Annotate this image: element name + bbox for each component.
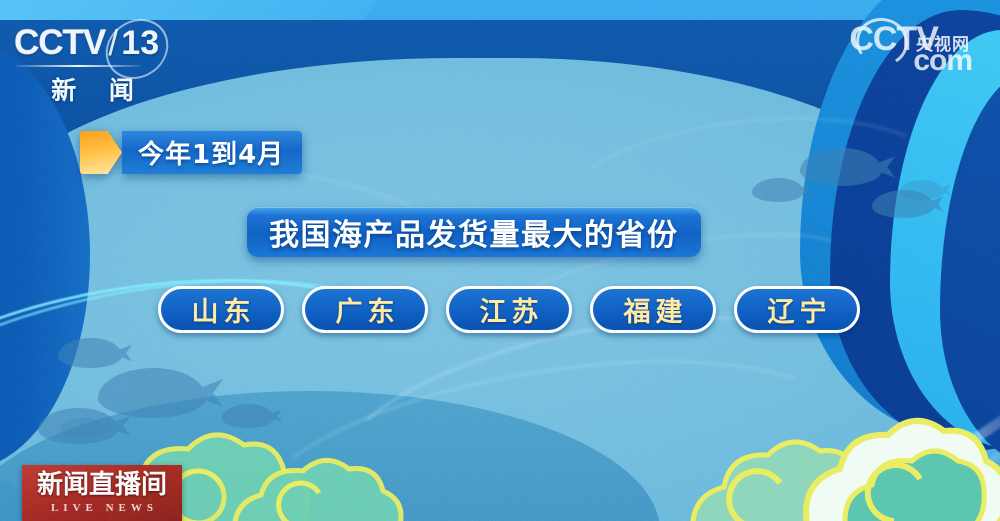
fish-silhouette-icon [872,190,934,218]
pentagon-marker-icon [80,131,122,174]
watermark-cn-text: 央视网 [916,30,970,55]
province-pill-list: 山东 广东 江苏 福建 辽宁 [158,286,860,333]
province-pill-fujian: 福建 [590,286,716,333]
background-right-ribbon-3 [890,30,1000,450]
logo-cctv-text: CCTV [14,23,105,63]
cctv-com-watermark: 央视网 CCTV com [849,22,972,76]
fish-silhouette-icon [98,368,206,418]
date-tag-body: 今年1到4月 [122,131,302,174]
fish-silhouette-icon [60,418,106,438]
province-pill-liaoning: 辽宁 [734,286,860,333]
water-ripple [238,324,866,521]
live-banner-en: LIVE NEWS [46,502,158,514]
province-label: 广东 [331,290,400,329]
live-banner-cn: 新闻直播间 [37,472,167,499]
fish-silhouette-icon [752,178,804,202]
background-right-ribbon-4 [940,70,1000,470]
headline-text: 我国海产品发货量最大的省份 [269,210,679,254]
fish-silhouette-icon [222,404,274,428]
headline-banner: 我国海产品发货量最大的省份 [247,207,701,257]
cctv13-channel-logo: CCTV / 13 新 闻 [14,22,159,107]
province-pill-jiangsu: 江苏 [446,286,572,333]
broadcast-graphic-screenshot: CCTV / 13 新 闻 央视网 CCTV com 今年1到4月 我国海产品发… [0,0,1000,521]
province-pill-guangdong: 广东 [302,286,428,333]
live-news-banner: 新闻直播间 LIVE NEWS [22,465,182,521]
decorative-light-streak [738,391,1000,521]
ornament-cloud-left-2 [215,417,445,521]
date-tag-label: 今年1到4月 [138,134,284,171]
fish-silhouette-icon [800,148,882,186]
fish-silhouette-icon [58,338,122,368]
date-range-tag: 今年1到4月 [80,131,302,174]
ornament-cloud-right-2 [790,381,1000,521]
province-pill-shandong: 山东 [158,286,284,333]
decorative-light-streak [764,442,1000,521]
province-label: 辽宁 [763,290,832,329]
fish-silhouette-icon [900,180,944,200]
ornament-cloud-right-1 [680,403,880,521]
province-label: 福建 [619,290,688,329]
fish-silhouette-icon [38,408,118,444]
province-label: 山东 [187,290,256,329]
province-label: 江苏 [475,290,544,329]
